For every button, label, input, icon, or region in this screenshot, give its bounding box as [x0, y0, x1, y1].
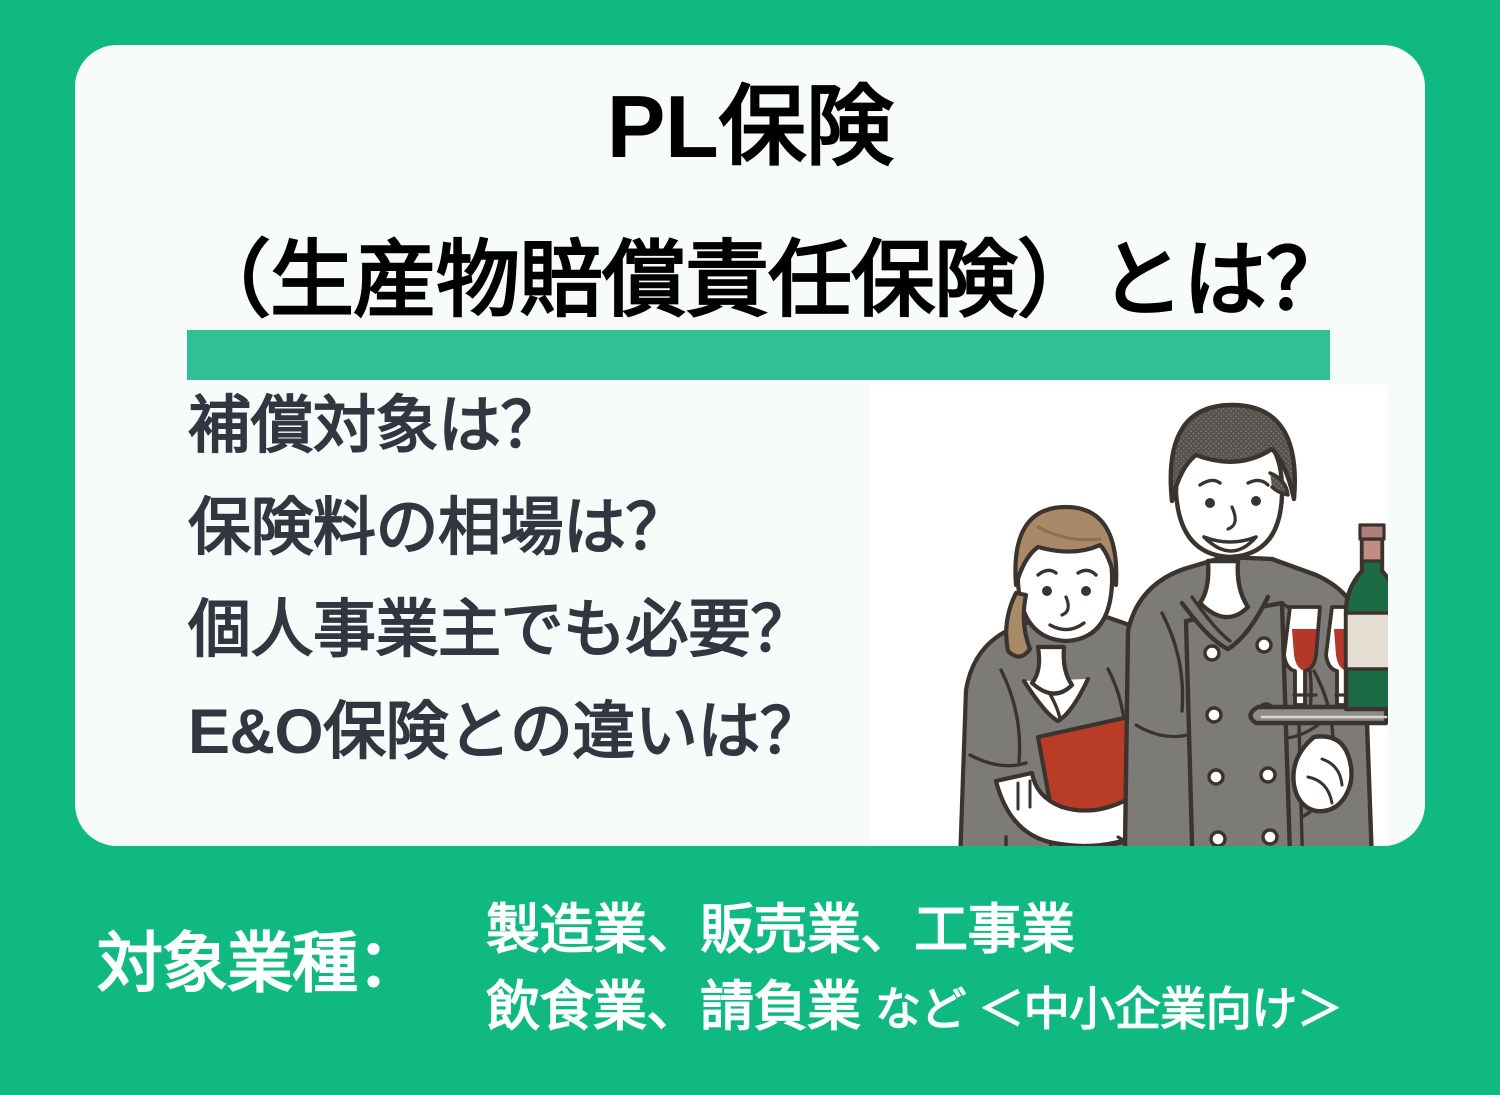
subtitle-block: （生産物賠償責任保険）とは？ — [187, 227, 1367, 357]
footer-line-2-small: など ＜中小企業向け＞ — [875, 983, 1342, 1035]
page-subtitle: （生産物賠償責任保険）とは？ — [187, 227, 1349, 335]
footer-line-2-main: 飲食業、請負業 — [486, 977, 875, 1037]
illustration-panel — [870, 385, 1388, 846]
footer-line-1: 製造業、販売業、工事業 — [486, 892, 1466, 969]
footer-industry-list: 製造業、販売業、工事業 飲食業、請負業 など ＜中小企業向け＞ — [486, 892, 1466, 1045]
question-item-4: E&O保険との違いは？ — [188, 681, 908, 783]
question-item-3: 個人事業主でも必要？ — [188, 579, 908, 681]
footer-label: 対象業種： — [97, 930, 422, 996]
question-list: 補償対象は？ 保険料の相場は？ 個人事業主でも必要？ E&O保険との違いは？ — [188, 375, 908, 783]
footer-line-1-main: 製造業、販売業、工事業 — [486, 900, 1075, 960]
footer-band: 対象業種： 製造業、販売業、工事業 飲食業、請負業 など ＜中小企業向け＞ — [0, 880, 1500, 1095]
restaurant-staff-illustration — [870, 385, 1388, 846]
poster-root: PL保険 （生産物賠償責任保険）とは？ 補償対象は？ 保険料の相場は？ 個人事業… — [0, 0, 1500, 1095]
subtitle-highlight-bar — [187, 330, 1330, 380]
question-item-1: 補償対象は？ — [188, 375, 908, 477]
main-card: PL保険 （生産物賠償責任保険）とは？ 補償対象は？ 保険料の相場は？ 個人事業… — [75, 45, 1425, 846]
question-item-2: 保険料の相場は？ — [188, 477, 908, 579]
page-title: PL保険 — [75, 83, 1425, 171]
footer-line-2: 飲食業、請負業 など ＜中小企業向け＞ — [486, 969, 1466, 1046]
